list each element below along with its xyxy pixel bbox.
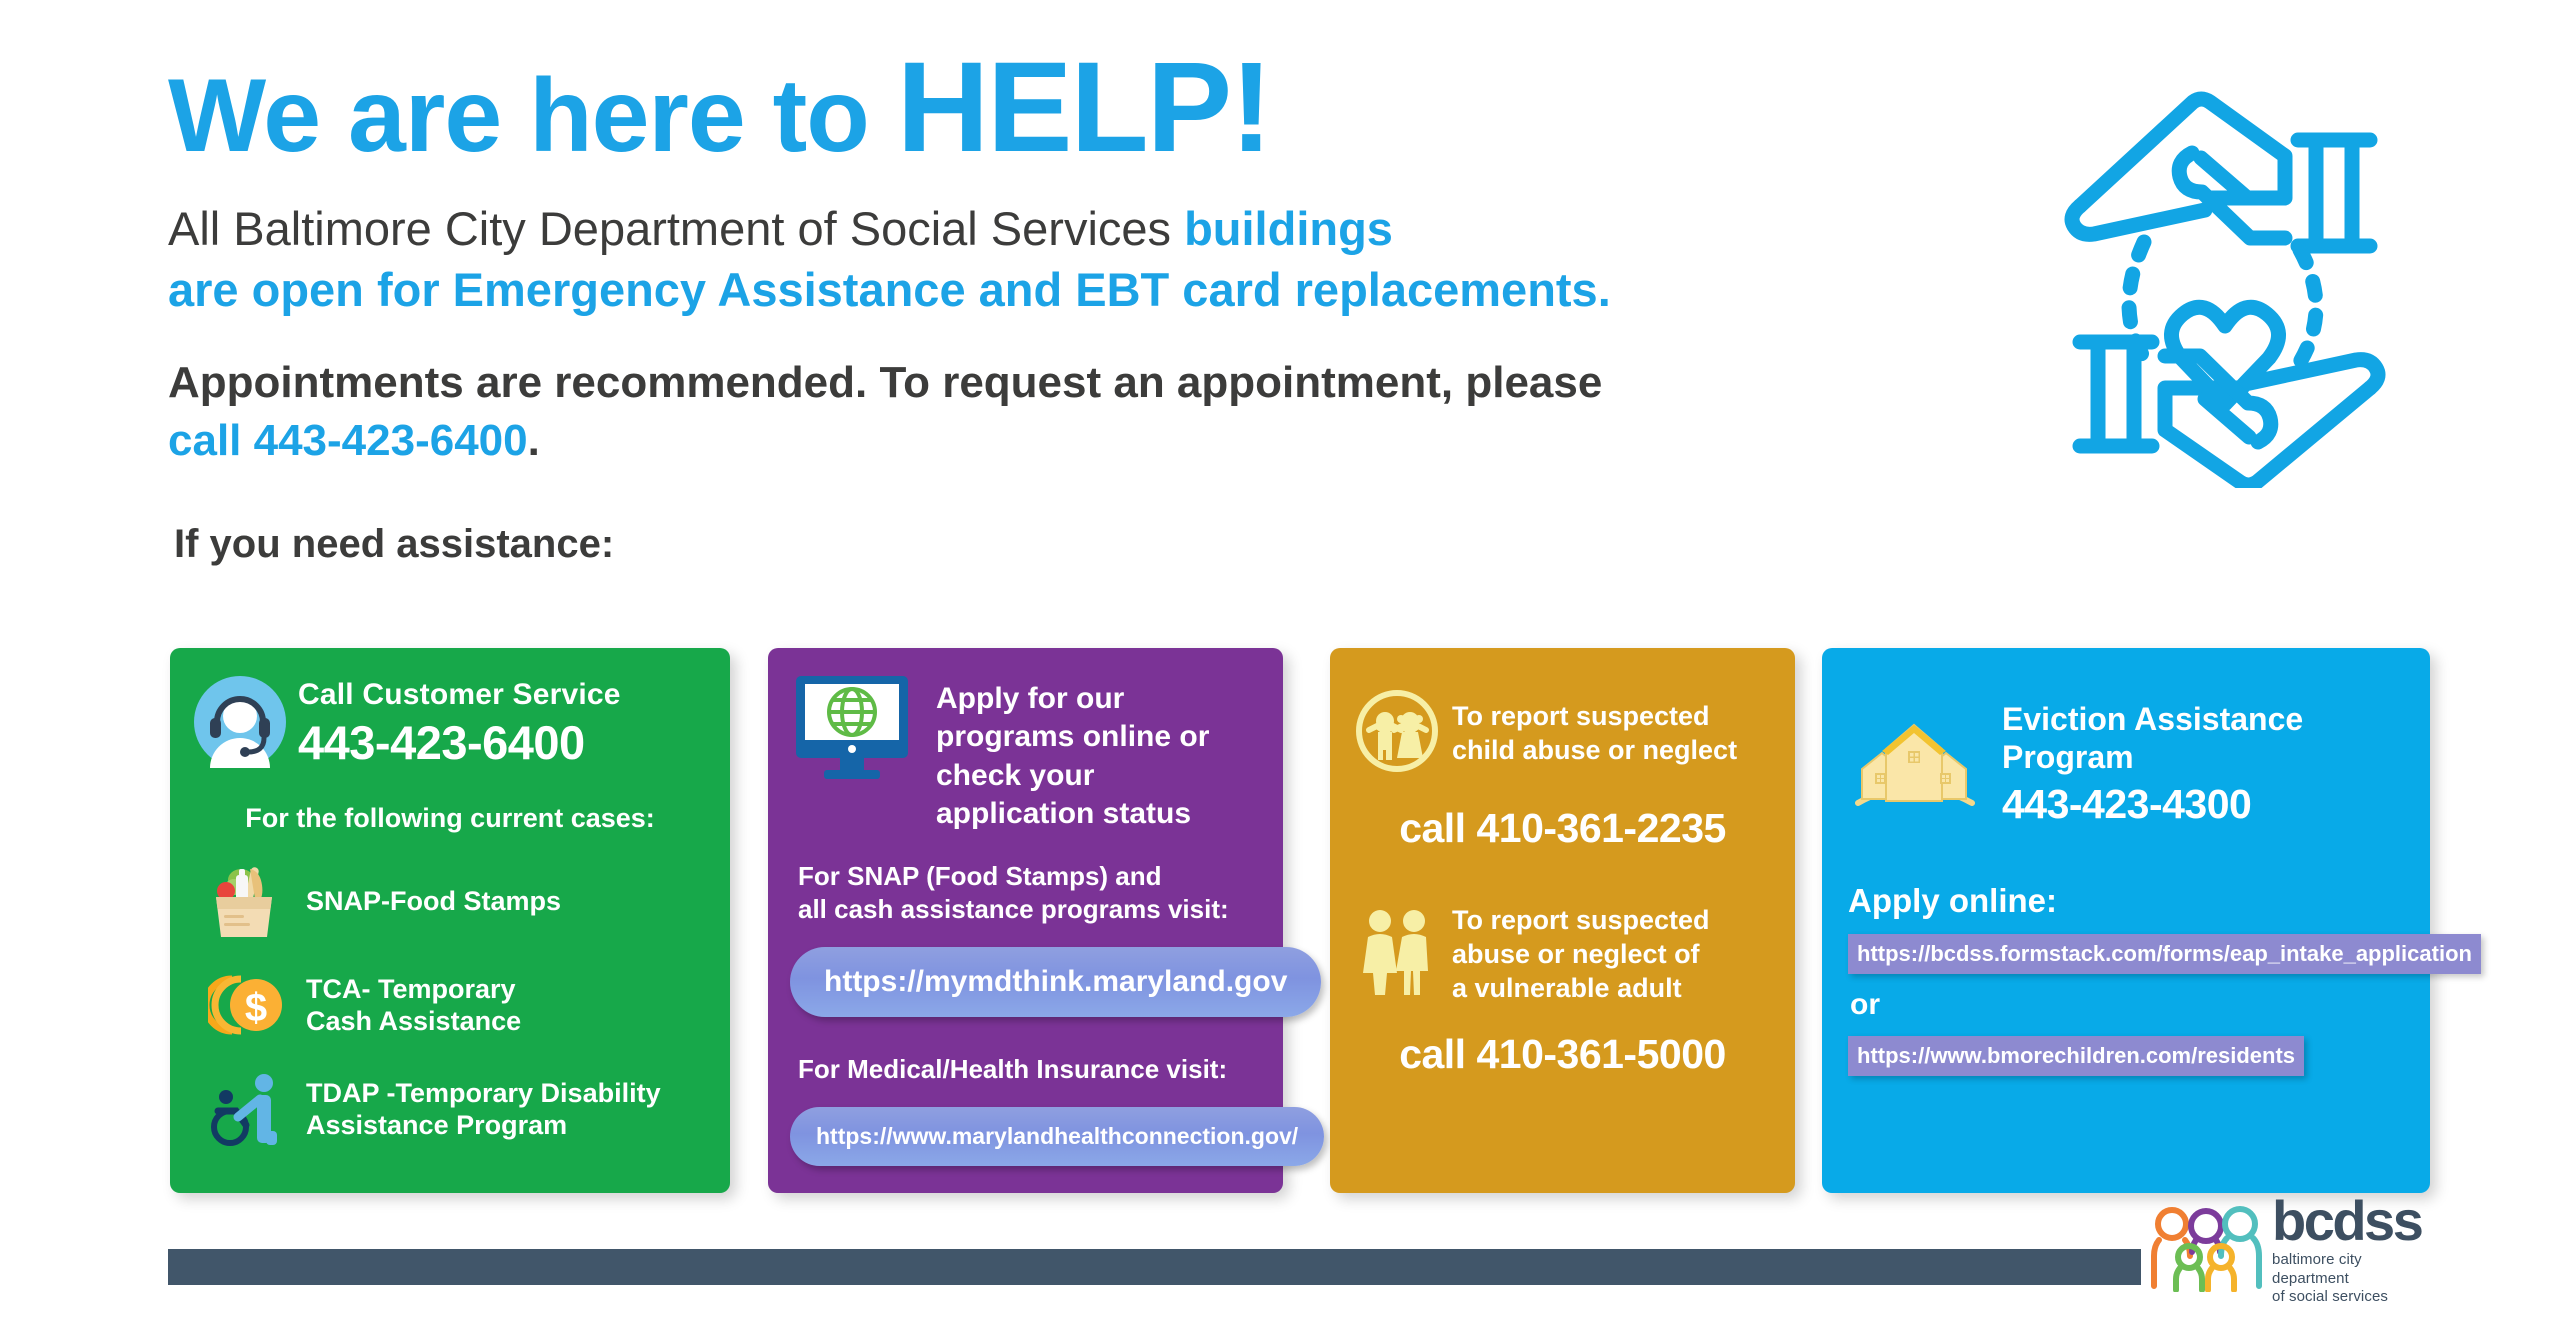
customer-service-caption: For the following current cases: <box>170 803 730 834</box>
bcdss-wordmark: bcdss baltimore city departmentof social… <box>2272 1194 2438 1307</box>
list-item: TDAP -Temporary DisabilityAssistance Pro… <box>200 1064 712 1154</box>
hero-subtitle: All Baltimore City Department of Social … <box>168 198 2048 320</box>
need-assistance-label: If you need assistance: <box>174 522 2048 567</box>
appointments-period: . <box>528 416 540 465</box>
two-adults-icon <box>1354 907 1440 1002</box>
bmorechildren-link[interactable]: https://www.bmorechildren.com/residents <box>1848 1036 2304 1076</box>
apply-online-header: Apply for our programs online or check y… <box>768 648 1283 834</box>
card-report-abuse[interactable]: To report suspectedchild abuse or neglec… <box>1330 648 1795 1193</box>
svg-text:$: $ <box>245 986 267 1030</box>
child-abuse-phone[interactable]: call 410-361-2235 <box>1330 805 1795 852</box>
customer-service-header: Call Customer Service 443-423-6400 <box>170 648 730 773</box>
marylandhealthconnection-link[interactable]: https://www.marylandhealthconnection.gov… <box>790 1107 1324 1166</box>
disability-assist-icon <box>200 1069 296 1149</box>
list-item-label: TCA- TemporaryCash Assistance <box>306 973 521 1038</box>
bcdss-logo: bcdss baltimore city departmentof social… <box>2148 1198 2438 1303</box>
appointments-text: Appointments are recommended. To request… <box>168 354 2048 470</box>
page-title-help: HELP! <box>897 36 1271 179</box>
children-circle-icon <box>1354 688 1440 779</box>
hero-subtitle-plain: All Baltimore City Department of Social … <box>168 202 1184 255</box>
or-label: or <box>1850 988 2430 1022</box>
card-customer-service[interactable]: Call Customer Service 443-423-6400 For t… <box>170 648 730 1193</box>
appointments-phone: call 443-423-6400 <box>168 416 528 465</box>
appointments-plain: Appointments are recommended. To request… <box>168 358 1602 407</box>
grocery-bag-icon <box>200 861 296 941</box>
bcdss-tagline: baltimore city departmentof social servi… <box>2272 1251 2438 1307</box>
houses-icon <box>1844 713 1984 818</box>
adult-abuse-text: To report suspectedabuse or neglect ofa … <box>1452 904 1710 1005</box>
medical-label: For Medical/Health Insurance visit: <box>798 1053 1283 1087</box>
mymdthink-link[interactable]: https://mymdthink.maryland.gov <box>790 947 1321 1017</box>
hands-heart-icon <box>2060 58 2390 488</box>
coins-dollar-icon: $ <box>200 973 296 1037</box>
customer-service-title: Call Customer Service <box>298 678 621 713</box>
adult-abuse-phone[interactable]: call 410-361-5000 <box>1330 1031 1795 1078</box>
card-apply-online[interactable]: Apply for our programs online or check y… <box>768 648 1283 1193</box>
apply-online-title: Apply for our programs online or check y… <box>936 680 1261 834</box>
footer-bar <box>168 1249 2141 1285</box>
cards-row: Call Customer Service 443-423-6400 For t… <box>170 648 2430 1193</box>
headset-agent-icon <box>194 676 286 773</box>
child-abuse-text: To report suspectedchild abuse or neglec… <box>1452 700 1737 768</box>
formstack-link[interactable]: https://bcdss.formstack.com/forms/eap_in… <box>1848 934 2481 974</box>
bcdss-family-icon <box>2148 1204 2264 1297</box>
bcdss-name: bcdss <box>2272 1194 2438 1247</box>
list-item: $ TCA- TemporaryCash Assistance <box>200 960 712 1050</box>
list-item-label: TDAP -Temporary DisabilityAssistance Pro… <box>306 1077 661 1142</box>
eviction-phone[interactable]: 443-423-4300 <box>2002 779 2430 830</box>
apply-online-label: Apply online: <box>1848 882 2430 920</box>
program-list: SNAP-Food Stamps $ TCA- TemporaryCash As… <box>170 856 730 1154</box>
monitor-globe-icon <box>790 670 914 795</box>
hero-section: We are here to HELP! All Baltimore City … <box>168 44 2048 567</box>
card-eviction-assistance[interactable]: Eviction Assistance Program 443-423-4300… <box>1822 648 2430 1193</box>
eviction-title: Eviction Assistance Program <box>2002 700 2430 777</box>
customer-service-phone[interactable]: 443-423-6400 <box>298 715 621 771</box>
page-title: We are here to HELP! <box>168 44 2048 172</box>
poster-page: We are here to HELP! All Baltimore City … <box>0 0 2560 1321</box>
eviction-header: Eviction Assistance Program 443-423-4300 <box>1822 648 2430 830</box>
hero-subtitle-line2: are open for Emergency Assistance and EB… <box>168 259 2048 320</box>
eviction-texts: Eviction Assistance Program 443-423-4300 <box>1984 700 2430 830</box>
child-abuse-row: To report suspectedchild abuse or neglec… <box>1330 688 1795 779</box>
customer-service-texts: Call Customer Service 443-423-6400 <box>298 678 621 771</box>
page-title-part1: We are here to <box>168 58 897 174</box>
list-item: SNAP-Food Stamps <box>200 856 712 946</box>
snap-label: For SNAP (Food Stamps) andall cash assis… <box>798 860 1283 928</box>
hero-subtitle-accent: buildings <box>1184 202 1393 255</box>
list-item-label: SNAP-Food Stamps <box>306 885 561 917</box>
adult-abuse-row: To report suspectedabuse or neglect ofa … <box>1330 904 1795 1005</box>
